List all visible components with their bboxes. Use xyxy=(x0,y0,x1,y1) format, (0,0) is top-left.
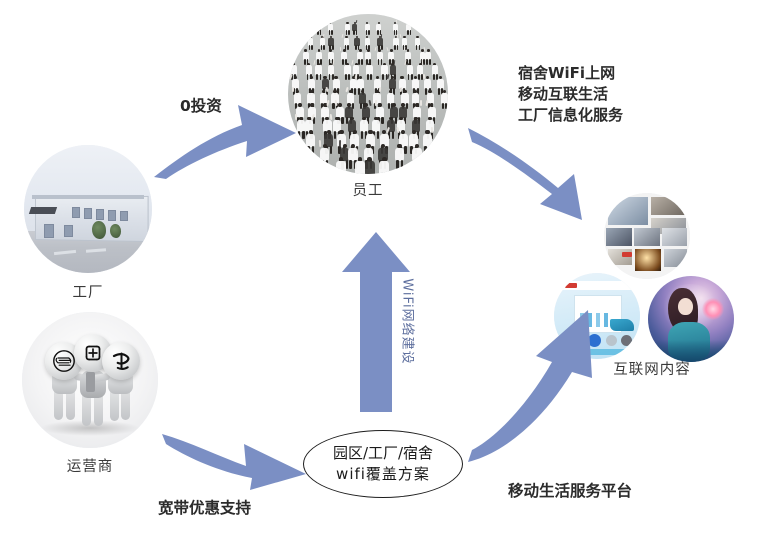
crowd-person xyxy=(319,144,331,170)
crowd-person-body xyxy=(412,93,419,104)
crowd-person-leg xyxy=(321,160,324,169)
crowd-person-leg xyxy=(445,103,447,110)
factory-roofline xyxy=(32,195,144,199)
internet-content-caption: 互联网内容 xyxy=(592,358,712,379)
crowd-person-leg xyxy=(410,30,411,35)
crowd-person-leg xyxy=(366,30,367,35)
factory-window xyxy=(84,208,92,219)
crowd-person xyxy=(363,157,376,174)
crowd-person-body xyxy=(401,93,408,104)
factory-tree xyxy=(110,224,121,238)
arrow-factory-to-employees xyxy=(150,95,300,180)
crowd-person-body xyxy=(395,148,404,162)
label-wifi-network-construction: WiFi网络建设 xyxy=(400,252,419,392)
arrow-operators-to-solution xyxy=(160,408,310,490)
crowd-person-leg xyxy=(413,160,416,169)
crowd-person-leg xyxy=(401,160,404,169)
crowd-person-raised-arm xyxy=(323,34,325,38)
label-employee-services: 宿舍WiFi上网 移动互联生活 工厂信息化服务 xyxy=(518,63,623,126)
crowd-person-leg xyxy=(361,131,363,139)
diagram-canvas: 工厂 员工 xyxy=(0,0,783,539)
crowd-person-raised-arm xyxy=(400,34,402,38)
crowd-person-body xyxy=(347,93,354,104)
crowd-person-leg xyxy=(433,74,435,80)
solution-line-2: wifi覆盖方案 xyxy=(336,464,430,485)
crowd-person-leg xyxy=(345,74,347,80)
crowd-person-leg xyxy=(368,30,369,35)
crowd-person-raised-arm xyxy=(423,47,425,51)
game-character-face xyxy=(678,298,693,315)
factory-window xyxy=(120,211,128,221)
arrow-employees-to-content xyxy=(466,122,616,222)
crowd-person-raised-arm xyxy=(340,47,342,51)
crowd-person-leg xyxy=(311,45,313,50)
portal-icon xyxy=(621,335,632,346)
crowd-person-leg xyxy=(331,30,332,35)
factory-window xyxy=(72,207,80,218)
crowd-person-body xyxy=(365,161,375,174)
crowd-person xyxy=(305,130,317,155)
label-mobile-life-platform: 移动生活服务平台 xyxy=(508,479,632,501)
service-line-3: 工厂信息化服务 xyxy=(518,105,623,126)
crowd-person-leg xyxy=(312,146,314,154)
crowd-person-body xyxy=(306,134,315,147)
video-thumbnail xyxy=(662,228,687,246)
employees-caption: 员工 xyxy=(288,179,448,200)
factory-image xyxy=(24,145,152,273)
content-game-image xyxy=(648,276,734,362)
factory-window xyxy=(64,225,73,237)
crowd-person-raised-arm xyxy=(290,74,293,79)
mascot-head-telecom xyxy=(102,342,140,380)
china-telecom-logo xyxy=(109,348,134,374)
crowd-person-raised-arm xyxy=(379,87,381,92)
crowd-person-raised-arm xyxy=(403,47,405,51)
crowd-person-raised-arm xyxy=(345,87,348,92)
crowd-person-leg xyxy=(418,160,421,169)
crowd-person-leg xyxy=(367,74,369,80)
crowd-person xyxy=(393,144,405,170)
video-thumbnail xyxy=(651,197,686,215)
video-thumbnail xyxy=(634,228,660,246)
crowd-person-raised-arm xyxy=(332,60,334,65)
crowd-person-leg xyxy=(326,160,329,169)
crowd-person-leg xyxy=(407,30,408,35)
crowd-person-body xyxy=(307,93,314,104)
crowd-person-leg xyxy=(353,30,354,35)
factory-awning xyxy=(29,207,57,214)
game-light-orb xyxy=(702,298,724,320)
operators-image xyxy=(22,312,158,448)
crowd-person-leg xyxy=(396,160,399,169)
crowd-person-leg xyxy=(317,30,318,35)
factory-tree xyxy=(92,221,106,239)
mascot-device xyxy=(86,372,95,392)
crowd-person-body xyxy=(423,134,432,147)
arrow-solution-to-content xyxy=(466,286,606,466)
crowd-person-leg xyxy=(346,30,347,35)
crowd-person-body xyxy=(441,93,448,104)
crowd-person-body xyxy=(320,148,329,162)
portal-ship-graphic xyxy=(610,319,634,331)
crowd-person-raised-arm xyxy=(338,140,340,147)
factory-window xyxy=(96,209,104,220)
crowd-person-raised-arm xyxy=(327,100,330,106)
crowd-person-leg xyxy=(429,146,431,154)
video-thumbnail xyxy=(664,249,687,267)
factory-caption: 工厂 xyxy=(24,281,152,302)
crowd-person-raised-arm xyxy=(351,60,353,65)
factory-window xyxy=(44,224,54,238)
crowd-person-leg xyxy=(424,146,426,154)
crowd-person xyxy=(411,144,423,170)
crowd-person-raised-arm xyxy=(423,74,425,79)
crowd-person-leg xyxy=(377,30,378,35)
crowd-person-leg xyxy=(361,59,363,65)
video-thumbnail xyxy=(606,228,632,246)
label-broadband-support: 宽带优惠支持 xyxy=(158,496,251,518)
crowd-person-leg xyxy=(320,30,321,35)
crowd-person-body xyxy=(336,161,346,174)
crowd-person xyxy=(378,157,391,174)
crowd-person-raised-arm xyxy=(386,127,390,134)
portal-icon xyxy=(606,335,617,346)
crowd-person-leg xyxy=(426,59,428,65)
crowd-person xyxy=(422,130,434,155)
service-line-1: 宿舍WiFi上网 xyxy=(518,63,623,84)
crowd-person-leg xyxy=(442,103,444,110)
content-video-image xyxy=(604,193,690,279)
service-line-2: 移动互联生活 xyxy=(518,84,623,105)
solution-line-1: 园区/工厂/宿舍 xyxy=(333,443,433,464)
crowd-person-leg xyxy=(356,30,357,35)
crowd-person-leg xyxy=(348,30,349,35)
operators-caption: 运营商 xyxy=(22,455,158,476)
crowd-person-raised-arm xyxy=(420,100,422,106)
label-zero-investment: 0投资 xyxy=(180,94,222,116)
crowd-person-raised-arm xyxy=(426,100,429,106)
crowd-person-body xyxy=(387,93,394,104)
crowd-person-body xyxy=(359,93,366,104)
crowd-person-leg xyxy=(392,131,394,139)
crowd-person-body xyxy=(412,148,421,162)
crowd-person-raised-arm xyxy=(311,114,315,120)
factory-window xyxy=(108,210,116,221)
crowd-person-raised-arm xyxy=(318,140,320,147)
crowd-person xyxy=(334,157,347,174)
china-mobile-logo xyxy=(52,349,76,373)
wifi-solution-callout: 园区/工厂/宿舍 wifi覆盖方案 xyxy=(303,430,463,498)
crowd-person-raised-arm xyxy=(430,127,432,133)
crowd-person-body xyxy=(379,161,389,174)
employees-image xyxy=(288,14,448,174)
crowd-people xyxy=(288,14,448,174)
crowd-person-raised-arm xyxy=(386,47,389,51)
crowd-person-raised-arm xyxy=(368,100,371,106)
crowd-person-leg xyxy=(329,30,330,35)
crowd-person xyxy=(439,90,448,113)
video-site-logo xyxy=(622,252,632,257)
video-thumbnail xyxy=(635,249,661,271)
crowd-person-raised-arm xyxy=(375,100,377,106)
crowd-person-raised-arm xyxy=(397,34,399,38)
crowd-person-leg xyxy=(349,160,352,169)
crowd-person-leg xyxy=(316,74,318,80)
crowd-person-leg xyxy=(394,30,395,35)
crowd-person-leg xyxy=(382,74,384,80)
crowd-person-leg xyxy=(307,146,309,154)
crowd-person-raised-arm xyxy=(399,87,401,92)
